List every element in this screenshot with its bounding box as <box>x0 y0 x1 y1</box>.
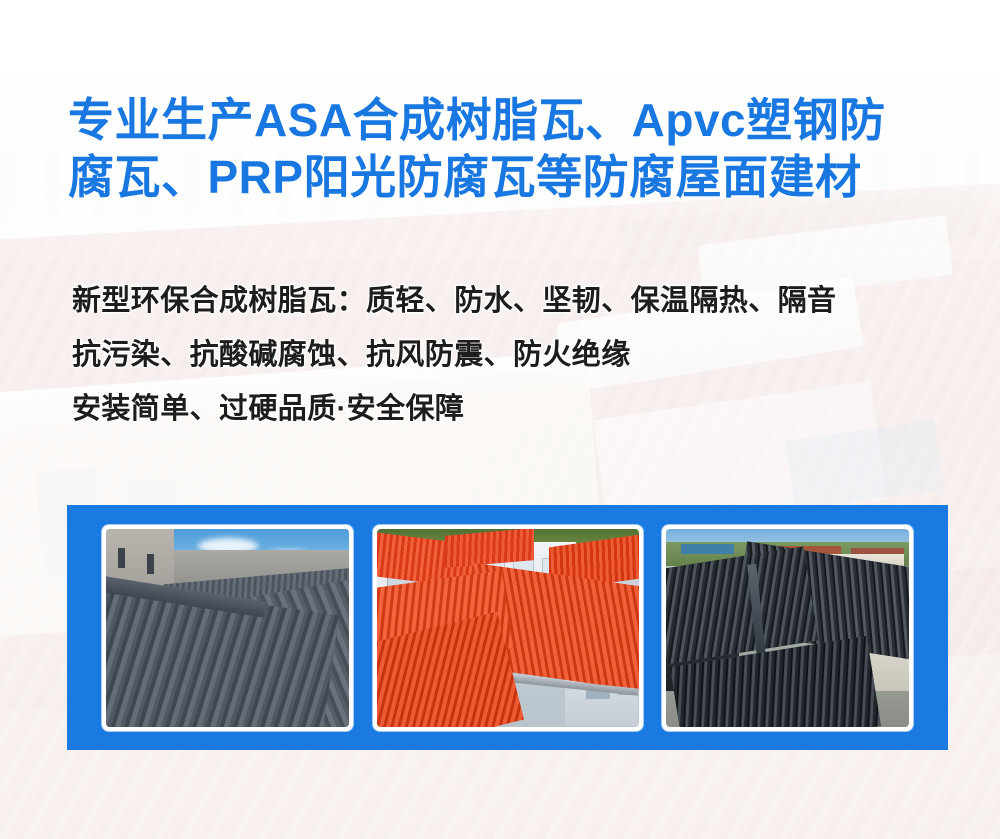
photo-frame[interactable] <box>662 525 913 731</box>
page-title: 专业生产ASA合成树脂瓦、Apvc塑钢防 腐瓦、PRP阳光防腐瓦等防腐屋面建材 <box>68 92 948 206</box>
gray-resin-tile-roof-photo[interactable] <box>106 529 349 727</box>
photo-window <box>147 554 154 574</box>
feature-line: 新型环保合成树脂瓦：质轻、防水、坚韧、保温隔热、隔音 <box>72 274 972 328</box>
photo-frame[interactable] <box>373 525 643 731</box>
photo-window <box>118 548 125 568</box>
feature-list: 新型环保合成树脂瓦：质轻、防水、坚韧、保温隔热、隔音 抗污染、抗酸碱腐蚀、抗风防… <box>72 274 972 436</box>
photo-frame[interactable] <box>102 525 353 731</box>
black-resin-tile-roof-photo[interactable] <box>666 529 909 727</box>
feature-line: 安装简单、过硬品质·安全保障 <box>72 382 972 436</box>
feature-line: 抗污染、抗酸碱腐蚀、抗风防震、防火绝缘 <box>72 328 972 382</box>
photo-blue-roof <box>681 544 734 554</box>
photo-gallery-panel <box>67 505 948 750</box>
red-resin-tile-roof-photo[interactable] <box>377 529 639 727</box>
promo-banner: 专业生产ASA合成树脂瓦、Apvc塑钢防 腐瓦、PRP阳光防腐瓦等防腐屋面建材 … <box>0 0 1000 839</box>
